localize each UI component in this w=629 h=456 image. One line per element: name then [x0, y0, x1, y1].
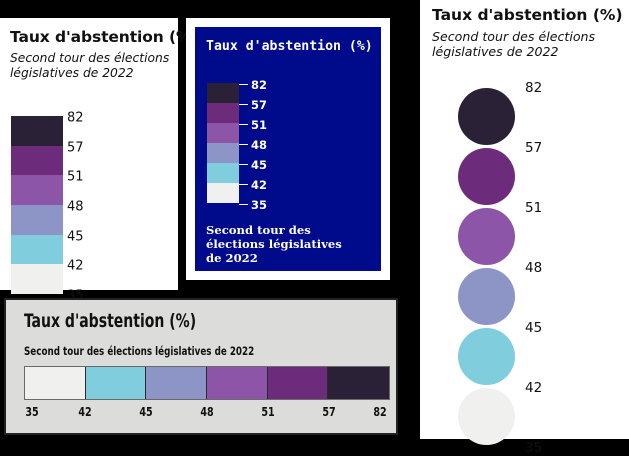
legend-swatch: [328, 367, 389, 399]
legend-label: 35: [25, 404, 38, 419]
legend-swatch: [268, 367, 329, 399]
legend-label: 82: [525, 80, 542, 96]
legend-labels-dark: 82575148454235: [251, 83, 321, 203]
legend-panel-circles: Taux d'abstention (%) Second tour des él…: [420, 0, 629, 439]
legend-subtitle-circles: Second tour des élections législatives d…: [432, 29, 627, 59]
legend-label: 82: [67, 111, 84, 126]
legend-label: 42: [67, 259, 84, 274]
legend-circle: [458, 268, 515, 325]
legend-label: 51: [251, 118, 267, 132]
legend-label: 51: [67, 170, 84, 185]
legend-circle: [458, 148, 515, 205]
legend-swatch: [25, 367, 86, 399]
legend-label: 45: [251, 158, 267, 172]
legend-swatch: [11, 116, 63, 146]
legend-tick: [239, 204, 248, 205]
legend-swatch: [207, 103, 239, 123]
legend-tick: [239, 84, 248, 85]
legend-panel-dark-inner: Taux d'abstention (%) 82575148454235 Sec…: [195, 27, 381, 271]
legend-tickmarks-dark: [239, 83, 251, 203]
legend-label: 82: [373, 404, 386, 419]
legend-subtitle-light-line1: Second tour des élections: [10, 51, 169, 65]
legend-swatch: [207, 367, 268, 399]
legend-subtitle-dark: Second tour des élections législatives d…: [206, 223, 376, 265]
legend-label: 57: [322, 404, 335, 419]
legend-circle: [458, 208, 515, 265]
legend-panel-dark: Taux d'abstention (%) 82575148454235 Sec…: [186, 18, 390, 280]
legend-swatch: [86, 367, 147, 399]
legend-label: 82: [251, 78, 267, 92]
legend-label: 45: [67, 229, 84, 244]
legend-label: 48: [67, 200, 84, 215]
legend-panel-gray: Taux d'abstention (%) Second tour des él…: [4, 298, 398, 435]
legend-label: 57: [67, 140, 84, 155]
legend-swatch: [146, 367, 207, 399]
legend-subtitle-dark-line3: de 2022: [206, 251, 258, 265]
legend-tick: [239, 164, 248, 165]
legend-tick: [239, 184, 248, 185]
legend-label: 35: [525, 440, 542, 456]
legend-label: 45: [139, 404, 152, 419]
legend-swatch: [11, 205, 63, 235]
legend-label: 42: [525, 380, 542, 396]
legend-circle: [458, 388, 515, 445]
legend-circle: [458, 328, 515, 385]
legend-swatch: [11, 235, 63, 265]
legend-label: 42: [78, 404, 91, 419]
legend-swatch: [207, 163, 239, 183]
legend-subtitle-gray: Second tour des élections législatives d…: [24, 344, 254, 358]
legend-swatch: [11, 264, 63, 294]
legend-title-dark: Taux d'abstention (%): [206, 39, 373, 54]
legend-subtitle-light-line2: législatives de 2022: [10, 66, 134, 80]
legend-swatch: [207, 143, 239, 163]
legend-tick: [239, 124, 248, 125]
legend-subtitle-dark-line2: élections législatives: [206, 237, 342, 251]
legend-tick: [239, 144, 248, 145]
legend-label: 48: [200, 404, 213, 419]
legend-subtitle-circles-line2: législatives de 2022: [432, 44, 559, 59]
legend-labels-gray: 35424548515782: [24, 404, 390, 424]
legend-label: 48: [251, 138, 267, 152]
legend-title-circles: Taux d'abstention (%): [432, 6, 623, 24]
legend-swatch: [207, 183, 239, 203]
legend-label: 57: [525, 140, 542, 156]
legend-swatch: [207, 123, 239, 143]
legend-circle: [458, 88, 515, 145]
legend-swatch: [207, 83, 239, 103]
legend-label: 57: [251, 98, 267, 112]
legend-label: 51: [525, 200, 542, 216]
legend-swatch: [11, 146, 63, 176]
legend-subtitle-dark-line1: Second tour des: [206, 223, 311, 237]
legend-subtitle-light: Second tour des élections législatives d…: [10, 51, 175, 80]
legend-labels-light: 82575148454235: [67, 116, 127, 294]
legend-colorbar-light: [11, 116, 63, 294]
legend-swatch: [11, 175, 63, 205]
legend-label: 35: [251, 198, 267, 212]
legend-label: 45: [525, 320, 542, 336]
legend-panel-light: Taux d'abstention (%) Second tour des él…: [0, 18, 178, 290]
legend-label: 42: [251, 178, 267, 192]
legend-colorbar-gray: [24, 366, 390, 400]
legend-circles-group: 82575148454235: [430, 80, 620, 430]
legend-title-gray: Taux d'abstention (%): [24, 310, 196, 332]
legend-subtitle-circles-line1: Second tour des élections: [432, 29, 595, 44]
legend-title-light: Taux d'abstention (%): [10, 28, 198, 46]
legend-colorbar-dark: [207, 83, 239, 203]
legend-label: 48: [525, 260, 542, 276]
legend-label: 51: [261, 404, 274, 419]
legend-tick: [239, 104, 248, 105]
